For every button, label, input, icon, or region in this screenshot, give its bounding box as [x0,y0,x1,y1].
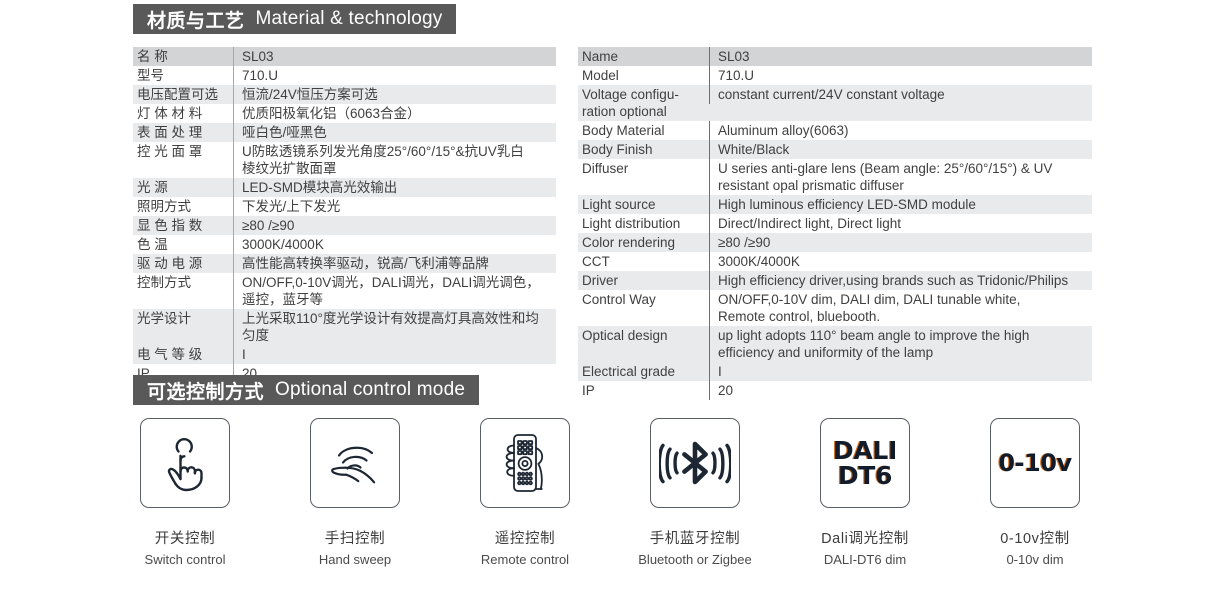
control-mode-label-cn: 开关控制 [155,527,215,548]
table-row: Optical design up light adopts 110° beam… [578,326,1092,362]
spec-label: 型号 [133,66,233,85]
table-row: 光 源 LED-SMD模块高光效输出 [133,178,556,197]
spec-label: Body Material [578,121,709,140]
control-mode-switch: 开关控制 Switch control [110,418,260,567]
spec-label: 电 气 等 级 [133,345,233,364]
table-row: 显 色 指 数 ≥80 /≥90 [133,216,556,235]
table-row: 驱 动 电 源 高性能高转换率驱动，锐高/飞利浦等品牌 [133,254,556,273]
section-header-material-en: Material & technology [256,8,443,30]
hand-sweep-icon [325,437,385,489]
spec-value: U防眩透镜系列发光角度25°/60°/15°&抗UV乳白 棱纹光扩散面罩 [233,142,556,178]
spec-value: 3000K/4000K [709,252,1092,271]
control-mode-label-en: Hand sweep [319,552,391,567]
table-row: Model 710.U [578,66,1092,85]
table-row: 光学设计 上光采取110°度光学设计有效提高灯具高效性和均 匀度 [133,309,556,345]
spec-value: U series anti-glare lens (Beam angle: 25… [709,159,1092,195]
spec-label: Color rendering [578,233,709,252]
control-mode-label-cn: 手机蓝牙控制 [650,527,741,548]
table-row: Driver High efficiency driver,using bran… [578,271,1092,290]
spec-label: CCT [578,252,709,271]
spec-value: High efficiency driver,using brands such… [709,271,1092,290]
control-mode-icon-box [310,418,400,508]
spec-value: High luminous efficiency LED-SMD module [709,195,1092,214]
table-row: 电压配置可选 恒流/24V恒压方案可选 [133,85,556,104]
spec-sheet-page: 材质与工艺 Material & technology 名 称 SL03 型号 … [0,0,1212,590]
spec-label: IP [578,381,709,400]
table-row: Body Finish White/Black [578,140,1092,159]
control-mode-icon-box [480,418,570,508]
spec-value: up light adopts 110° beam angle to impro… [709,326,1092,362]
spec-label: Body Finish [578,140,709,159]
spec-value: 高性能高转换率驱动，锐高/飞利浦等品牌 [233,254,556,273]
control-mode-label-cn: 0-10v控制 [1000,527,1069,548]
spec-label: 控 光 面 罩 [133,142,233,161]
control-mode-label-cn: 手扫控制 [325,527,385,548]
remote-control-icon [495,430,555,496]
spec-label: 表 面 处 理 [133,123,233,142]
spec-label: Electrical grade [578,362,709,381]
spec-value: ≥80 /≥90 [233,216,556,235]
spec-value: ON/OFF,0-10V dim, DALI dim, DALI tunable… [709,290,1092,326]
spec-label: Driver [578,271,709,290]
spec-label: Model [578,66,709,85]
section-header-material-cn: 材质与工艺 [147,6,245,33]
spec-label: 光学设计 [133,309,233,328]
spec-value: 20 [709,381,1092,400]
table-row: 灯 体 材 料 优质阳极氧化铝（6063合金） [133,104,556,123]
control-mode-label-en: Remote control [481,552,569,567]
control-mode-dali: DALI DT6 Dali调光控制 DALI-DT6 dim [790,418,940,567]
table-row: 控制方式 ON/OFF,0-10V调光，DALI调光，DALI调光调色， 遥控，… [133,273,556,309]
table-row: 色 温 3000K/4000K [133,235,556,254]
spec-value: I [233,345,556,364]
spec-value: SL03 [233,47,556,66]
spec-value: 710.U [709,66,1092,85]
table-row: Light source High luminous efficiency LE… [578,195,1092,214]
table-row: CCT 3000K/4000K [578,252,1092,271]
table-row: 型号 710.U [133,66,556,85]
spec-label: 名 称 [133,47,233,66]
spec-value: 3000K/4000K [233,235,556,254]
spec-value: 优质阳极氧化铝（6063合金） [233,104,556,123]
spec-value: 上光采取110°度光学设计有效提高灯具高效性和均 匀度 [233,309,556,345]
spec-label: 控制方式 [133,273,233,292]
spec-value: SL03 [709,47,1092,66]
control-mode-remote: 遥控控制 Remote control [450,418,600,567]
table-row: Body Material Aluminum alloy(6063) [578,121,1092,140]
spec-value: 恒流/24V恒压方案可选 [233,85,556,104]
spec-value: ≥80 /≥90 [709,233,1092,252]
spec-label: 驱 动 电 源 [133,254,233,273]
hand-tap-icon [158,434,212,492]
spec-label: Light distribution [578,214,709,233]
control-mode-hand-sweep: 手扫控制 Hand sweep [280,418,430,567]
spec-label: 灯 体 材 料 [133,104,233,123]
table-row: 照明方式 下发光/上下发光 [133,197,556,216]
spec-value: Aluminum alloy(6063) [709,121,1092,140]
spec-label: Control Way [578,290,709,309]
spec-value: 哑白色/哑黑色 [233,123,556,142]
spec-value: Direct/Indirect light, Direct light [709,214,1092,233]
section-header-control-mode: 可选控制方式 Optional control mode [133,375,479,405]
control-mode-0-10v: 0-10v 0-10v控制 0-10v dim [960,418,1110,567]
spec-value: 710.U [233,66,556,85]
table-row: Name SL03 [578,47,1092,66]
table-row: Electrical grade I [578,362,1092,381]
control-mode-label-en: Bluetooth or Zigbee [638,552,751,567]
table-row: Color rendering ≥80 /≥90 [578,233,1092,252]
table-row: 电 气 等 级 I [133,345,556,364]
table-row: 名 称 SL03 [133,47,556,66]
spec-label: Name [578,47,709,66]
control-mode-label-en: DALI-DT6 dim [824,552,906,567]
bluetooth-icon [659,440,731,486]
spec-value: ON/OFF,0-10V调光，DALI调光，DALI调光调色， 遥控，蓝牙等 [233,273,556,309]
control-mode-label-en: Switch control [145,552,226,567]
control-mode-label-en: 0-10v dim [1006,552,1063,567]
table-row: 表 面 处 理 哑白色/哑黑色 [133,123,556,142]
spec-value: LED-SMD模块高光效输出 [233,178,556,197]
spec-label: Voltage configu- ration optional [578,85,709,121]
spec-label: 电压配置可选 [133,85,233,104]
zero-to-ten-volt-icon: 0-10v [998,451,1071,475]
spec-label: 照明方式 [133,197,233,216]
spec-value: 下发光/上下发光 [233,197,556,216]
spec-label: Light source [578,195,709,214]
spec-value: constant current/24V constant voltage [709,85,1092,104]
spec-label: 色 温 [133,235,233,254]
table-row: IP 20 [578,381,1092,400]
spec-label: 显 色 指 数 [133,216,233,235]
control-mode-label-cn: 遥控控制 [495,527,555,548]
control-mode-bluetooth: 手机蓝牙控制 Bluetooth or Zigbee [620,418,770,567]
control-mode-list: 开关控制 Switch control 手扫控制 [110,418,1110,567]
control-mode-icon-box [140,418,230,508]
control-mode-icon-box [650,418,740,508]
section-header-control-mode-en: Optional control mode [275,379,465,401]
control-mode-label-cn: Dali调光控制 [821,527,909,548]
section-header-material: 材质与工艺 Material & technology [133,4,456,34]
table-row: Control Way ON/OFF,0-10V dim, DALI dim, … [578,290,1092,326]
control-mode-icon-box: DALI DT6 [820,418,910,508]
spec-table-chinese: 名 称 SL03 型号 710.U 电压配置可选 恒流/24V恒压方案可选 灯 … [133,47,556,383]
spec-label: Diffuser [578,159,709,178]
spec-value: I [709,362,1092,381]
section-header-control-mode-cn: 可选控制方式 [147,377,264,404]
table-row: Voltage configu- ration optional constan… [578,85,1092,121]
spec-table-english: Name SL03 Model 710.U Voltage configu- r… [578,47,1092,400]
control-mode-icon-box: 0-10v [990,418,1080,508]
table-row: Light distribution Direct/Indirect light… [578,214,1092,233]
spec-label: Optical design [578,326,709,345]
spec-label: 光 源 [133,178,233,197]
spec-value: White/Black [709,140,1092,159]
table-row: Diffuser U series anti-glare lens (Beam … [578,159,1092,195]
dali-dt6-icon: DALI DT6 [833,438,897,489]
table-row: 控 光 面 罩 U防眩透镜系列发光角度25°/60°/15°&抗UV乳白 棱纹光… [133,142,556,178]
